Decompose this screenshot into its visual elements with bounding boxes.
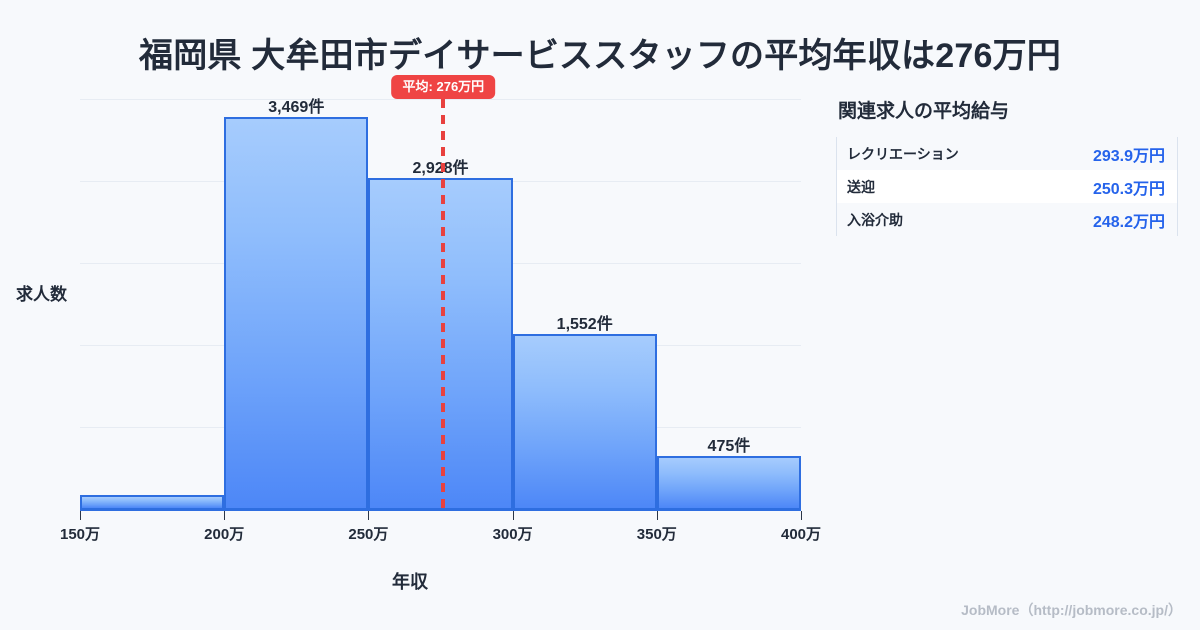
x-axis-tick [657, 511, 658, 520]
related-salary-row-value: 248.2万円 [1093, 208, 1165, 232]
chart-page: 福岡県 大牟田市デイサービススタッフの平均年収は276万円 求人数 3,469件… [0, 0, 1200, 630]
x-axis-tick [368, 511, 369, 520]
x-axis-tick-label: 200万 [204, 523, 244, 544]
x-axis-label: 年収 [0, 568, 820, 594]
x-axis-tick-label: 250万 [348, 523, 388, 544]
histogram-bar [80, 495, 224, 510]
average-badge: 平均: 276万円 [392, 75, 496, 99]
related-salary-row-value: 250.3万円 [1093, 175, 1165, 199]
y-axis-label: 求人数 [16, 280, 67, 305]
related-salary-row: 送迎250.3万円 [837, 170, 1177, 203]
plot-area: 3,469件2,928件1,552件475件150万200万250万300万35… [80, 99, 801, 510]
related-salary-row-label: 送迎 [847, 177, 875, 197]
related-salary-title: 関連求人の平均給与 [838, 96, 1184, 123]
x-axis-tick [513, 511, 514, 520]
related-salary-row-label: 入浴介助 [847, 210, 903, 230]
bar-value-label: 3,469件 [268, 93, 324, 117]
related-salary-row: 入浴介助248.2万円 [837, 203, 1177, 236]
related-salary-row-label: レクリエーション [847, 144, 959, 164]
related-salary-table: レクリエーション293.9万円送迎250.3万円入浴介助248.2万円 [836, 137, 1178, 236]
x-axis-tick-label: 350万 [637, 523, 677, 544]
bar-value-label: 475件 [708, 432, 751, 456]
histogram-bar [224, 117, 368, 510]
histogram-bar [513, 334, 657, 510]
average-line [441, 99, 445, 510]
x-axis-tick [80, 511, 81, 520]
histogram-chart: 求人数 3,469件2,928件1,552件475件150万200万250万30… [0, 90, 820, 600]
x-axis-tick-label: 300万 [493, 523, 533, 544]
x-axis-tick-label: 150万 [60, 523, 100, 544]
x-axis-tick-label: 400万 [781, 523, 821, 544]
related-salary-row-value: 293.9万円 [1093, 142, 1165, 166]
histogram-bar [657, 456, 801, 510]
x-axis-tick [801, 511, 802, 520]
watermark: JobMore（http://jobmore.co.jp/） [961, 600, 1182, 620]
bar-value-label: 1,552件 [557, 310, 613, 334]
page-title: 福岡県 大牟田市デイサービススタッフの平均年収は276万円 [0, 28, 1200, 77]
x-axis-tick [224, 511, 225, 520]
related-salary-row: レクリエーション293.9万円 [837, 137, 1177, 170]
related-salary-panel: 関連求人の平均給与 レクリエーション293.9万円送迎250.3万円入浴介助24… [836, 96, 1184, 236]
